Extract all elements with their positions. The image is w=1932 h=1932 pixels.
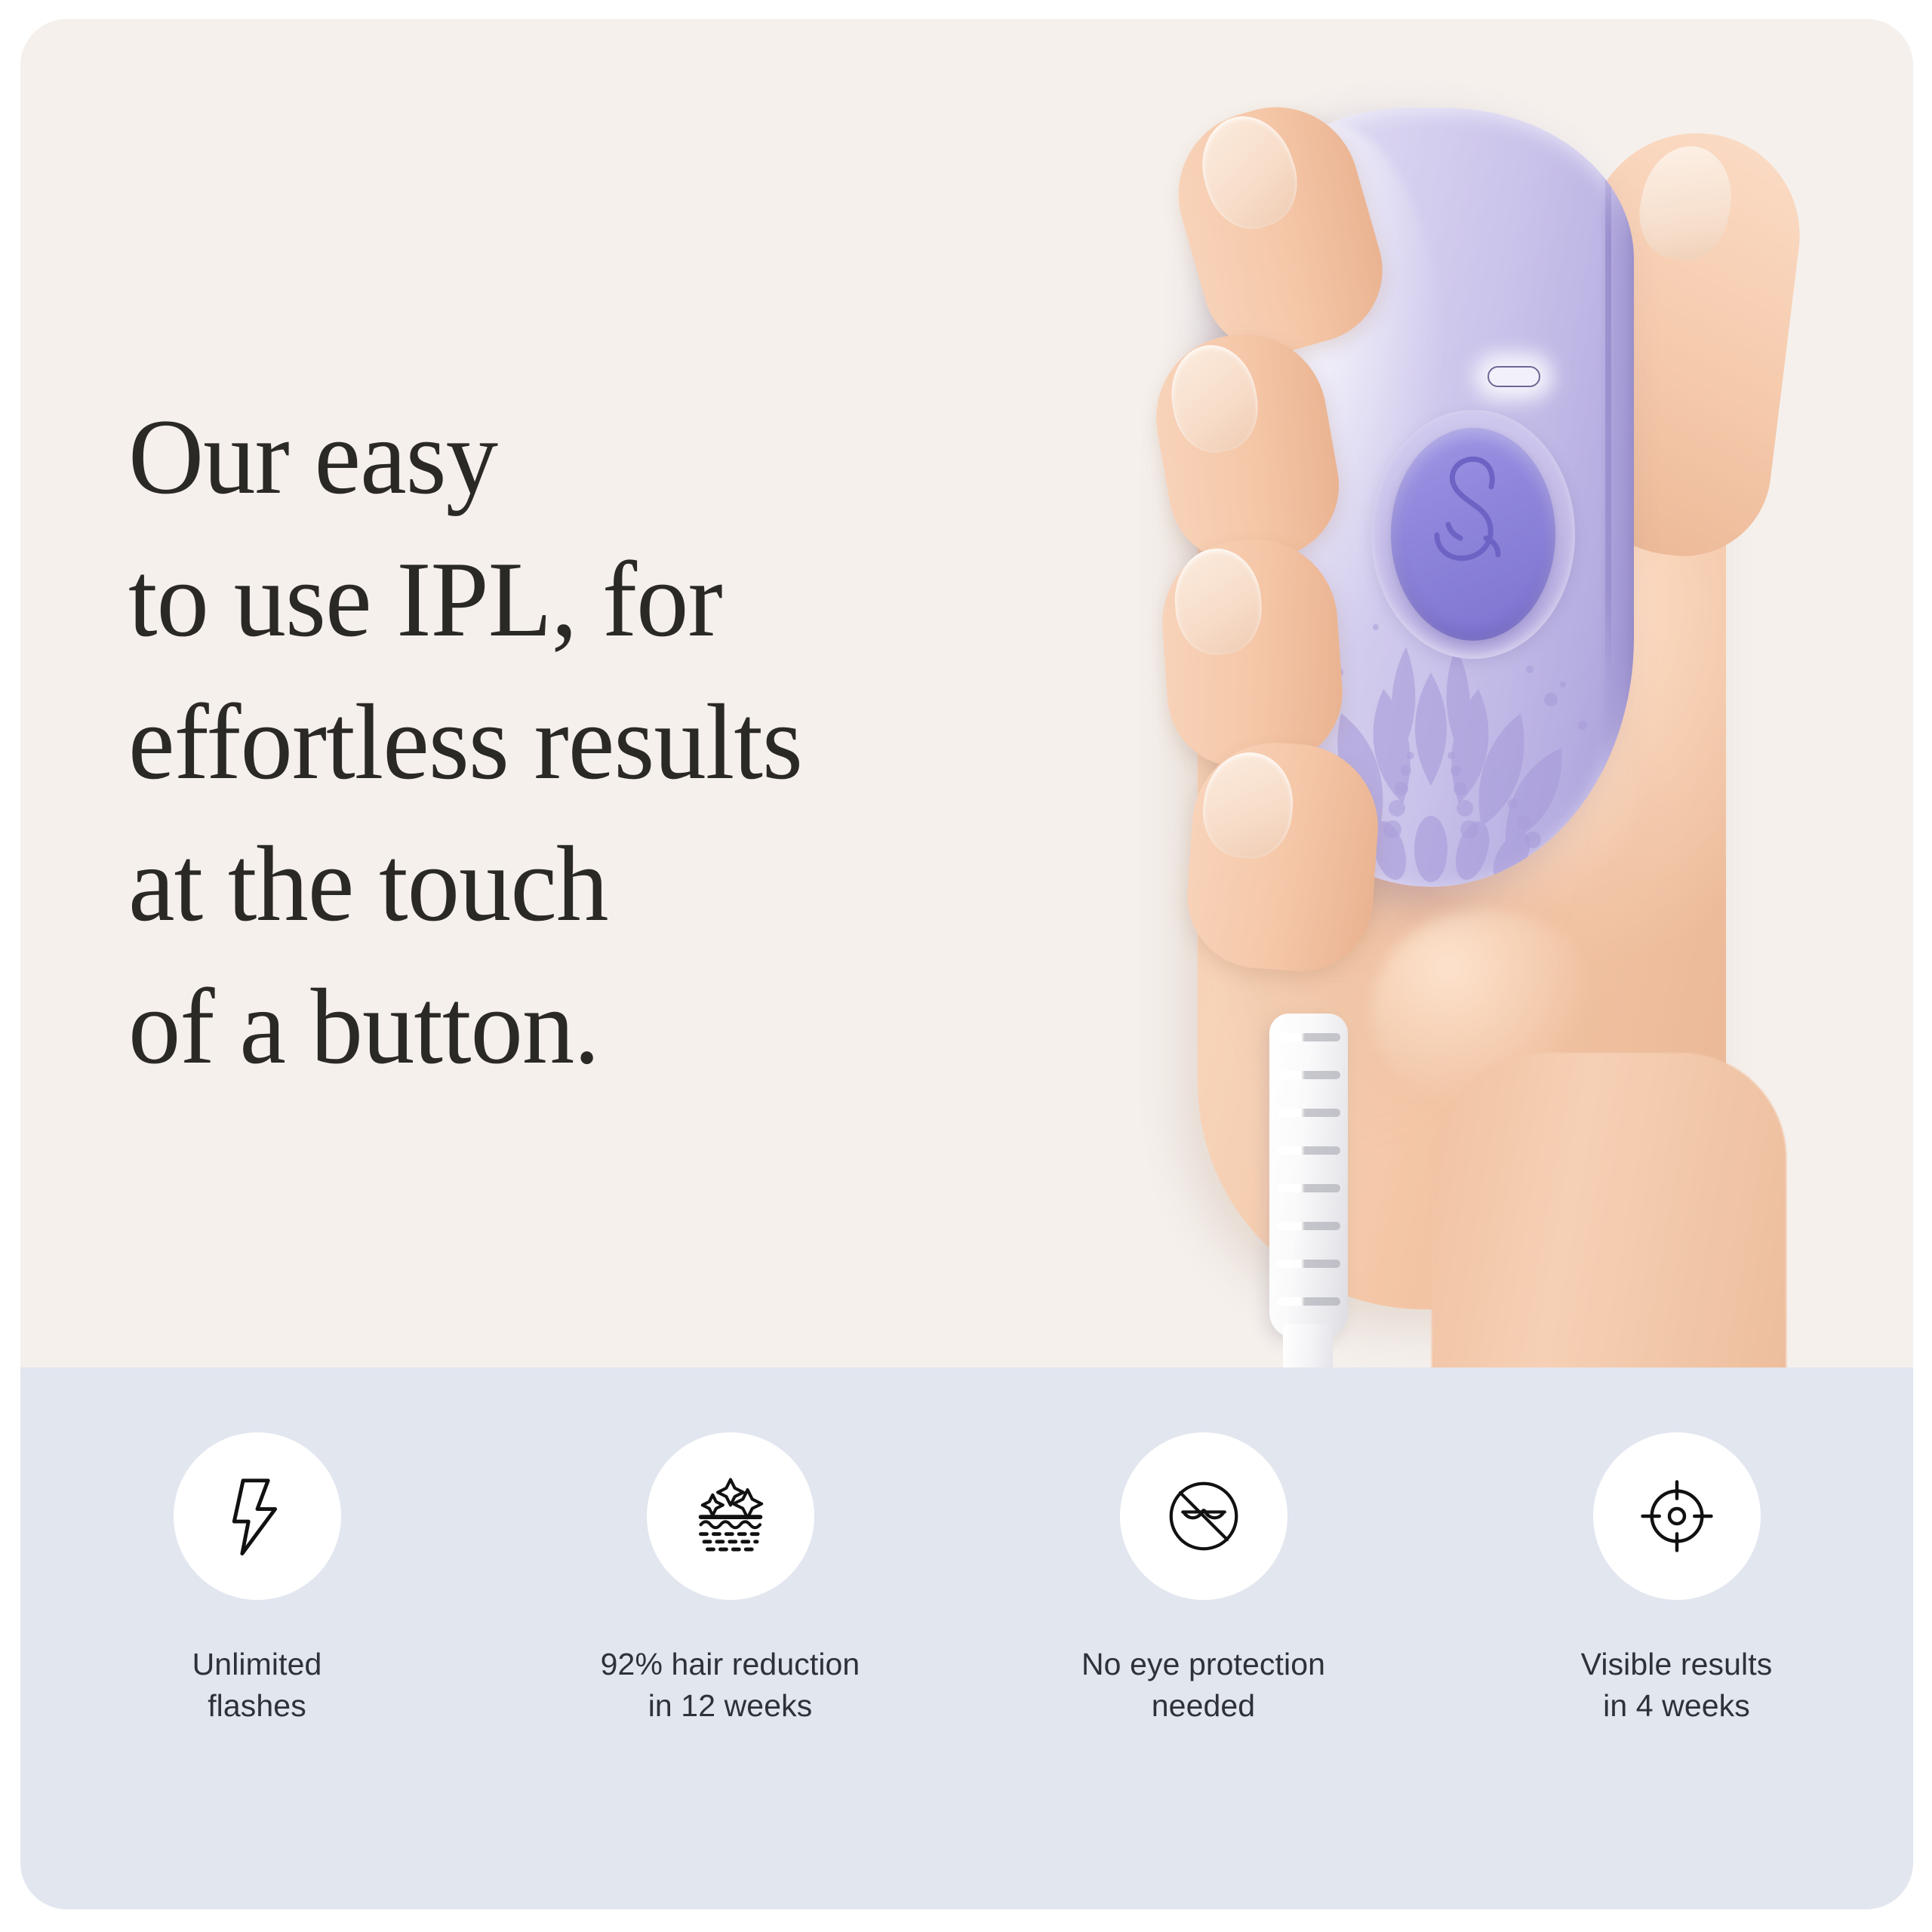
feature-item: No eye protection needed (977, 1432, 1431, 1727)
hero-section: Our easy to use IPL, for effortless resu… (20, 19, 1913, 1367)
wrist (1432, 1053, 1786, 1367)
skin-layers-sparkle-icon (684, 1469, 777, 1563)
lightning-bolt-icon (213, 1472, 302, 1561)
crosshair-target-icon (1631, 1470, 1723, 1562)
feature-icon-bubble (647, 1432, 814, 1600)
feature-item: Visible results in 4 weeks (1450, 1432, 1904, 1727)
product-feature-card: Our easy to use IPL, for effortless resu… (20, 19, 1913, 1909)
feature-icon-bubble (1593, 1432, 1761, 1600)
feature-label: No eye protection needed (1081, 1644, 1325, 1727)
feature-icon-bubble (174, 1432, 341, 1600)
brand-s-logo-icon (1391, 428, 1555, 641)
feature-item: Unlimited flashes (30, 1432, 485, 1727)
led-indicator (1487, 366, 1540, 387)
product-photo (949, 19, 1913, 1367)
feature-icon-bubble (1120, 1432, 1287, 1600)
feature-label: 92% hair reduction in 12 weeks (601, 1644, 860, 1727)
page-title: Our easy to use IPL, for effortless resu… (128, 386, 1044, 1098)
feature-label: Visible results in 4 weeks (1581, 1644, 1773, 1727)
feature-strip: Unlimited flashes (20, 1367, 1913, 1909)
cable-strain-relief (1269, 1014, 1348, 1338)
no-glasses-icon (1158, 1470, 1250, 1562)
feature-item: 92% hair reduction in 12 weeks (503, 1432, 958, 1727)
feature-label: Unlimited flashes (192, 1644, 322, 1727)
